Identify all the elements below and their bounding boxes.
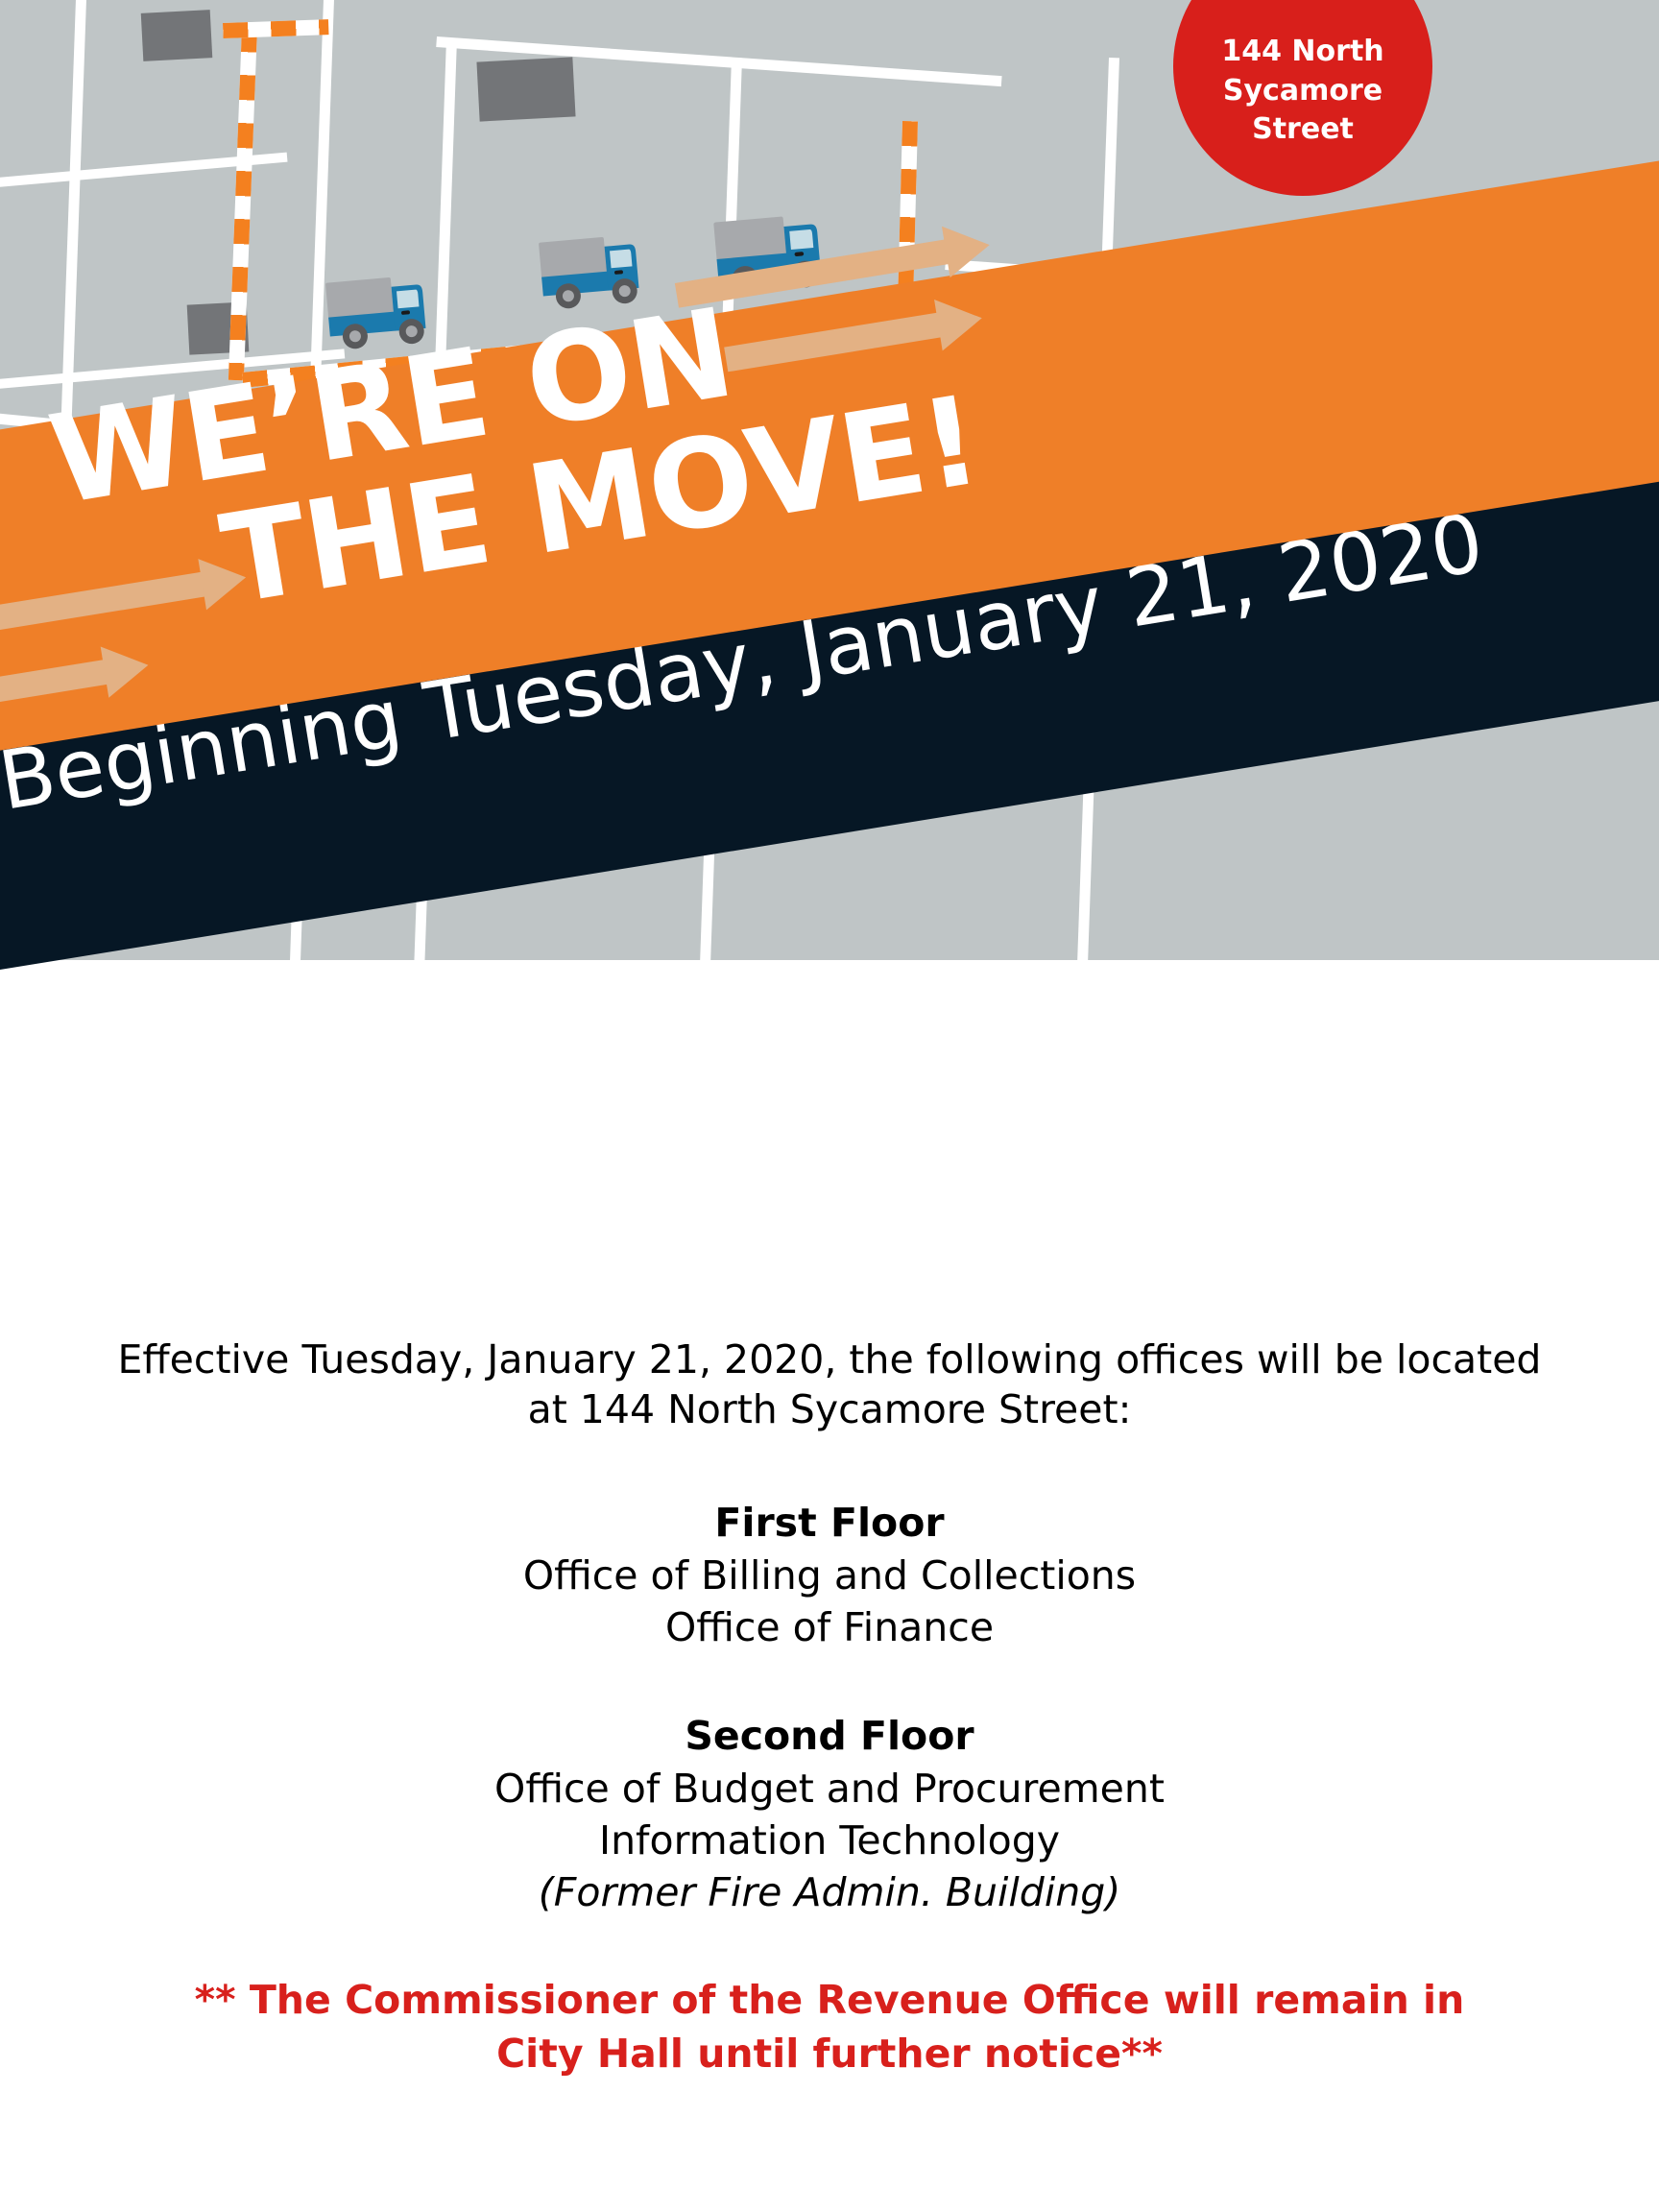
map-building [141,10,213,61]
spacer [0,1435,1659,1497]
notice-line-1: ** The Commissioner of the Revenue Offic… [77,1974,1582,2028]
office-note: (Former Fire Admin. Building) [0,1866,1659,1918]
location-marker-label: 144 North Sycamore Street [1221,0,1383,150]
office-item: Office of Billing and Collections [0,1550,1659,1601]
map-building [476,57,575,121]
route-dash-vertical-left [228,27,257,380]
office-item: Office of Finance [0,1601,1659,1653]
revenue-office-notice: ** The Commissioner of the Revenue Offic… [0,1974,1659,2081]
intro-line-2: at 144 North Sycamore Street: [0,1384,1659,1434]
arrow-right-icon [0,639,153,733]
poster-root: 144 North Sycamore Street Beginning Tues… [0,0,1659,2212]
location-marker-pin[interactable]: 144 North Sycamore Street [1173,0,1432,196]
office-item: Information Technology [0,1815,1659,1866]
notice-line-2: City Hall until further notice** [77,2028,1582,2081]
route-dash-top-left [223,19,328,38]
office-item: Office of Budget and Procurement [0,1763,1659,1815]
floor-heading-second: Second Floor [0,1710,1659,1763]
spacer [0,1654,1659,1710]
body-content: Effective Tuesday, January 21, 2020, the… [0,1334,1659,2081]
intro-line-1: Effective Tuesday, January 21, 2020, the… [0,1334,1659,1384]
floor-heading-first: First Floor [0,1497,1659,1550]
